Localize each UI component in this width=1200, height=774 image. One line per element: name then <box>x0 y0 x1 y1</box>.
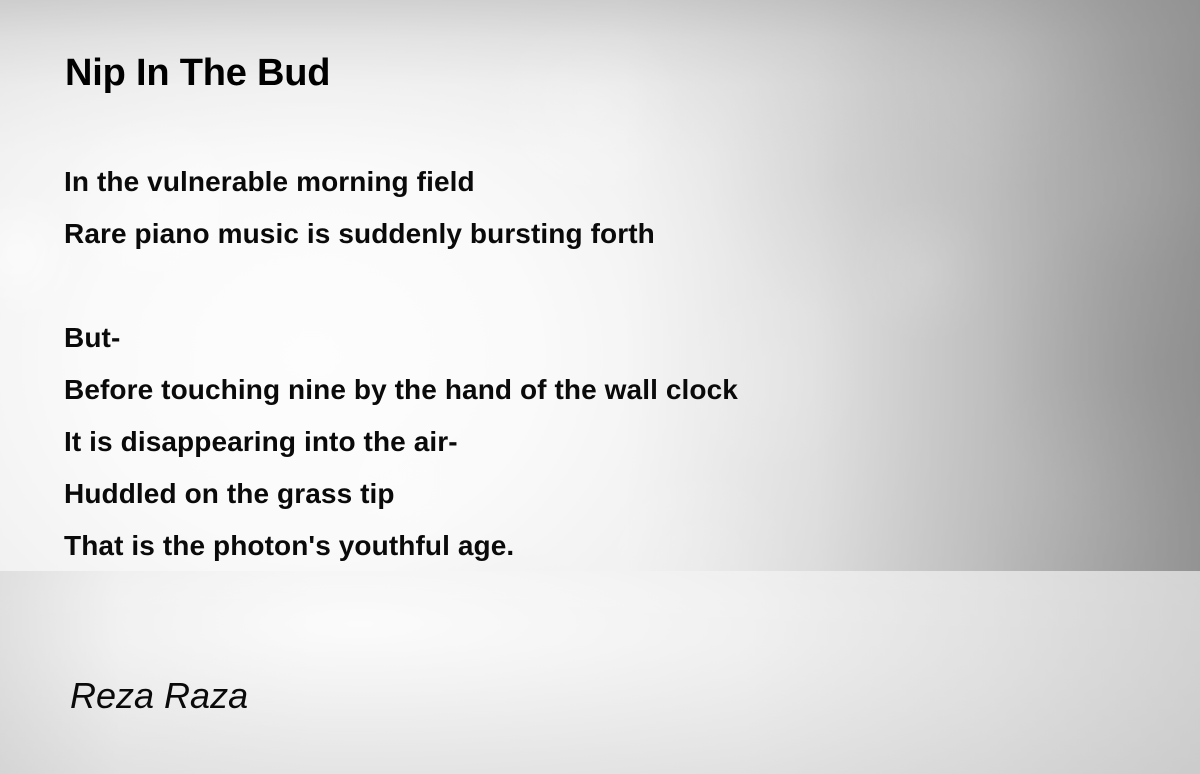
poem-line: Rare piano music is suddenly bursting fo… <box>64 208 738 260</box>
poem-line: Huddled on the grass tip <box>64 468 738 520</box>
poem-title: Nip In The Bud <box>65 51 330 95</box>
poem-body: In the vulnerable morning field Rare pia… <box>64 156 738 572</box>
poem-content: Nip In The Bud In the vulnerable morning… <box>0 0 1200 774</box>
poem-image-card: Nip In The Bud In the vulnerable morning… <box>0 0 1200 774</box>
poem-line: Before touching nine by the hand of the … <box>64 364 738 416</box>
poem-line: It is disappearing into the air- <box>64 416 738 468</box>
poem-line: In the vulnerable morning field <box>64 156 738 208</box>
poem-line: That is the photon's youthful age. <box>64 520 738 572</box>
poem-line-blank <box>64 260 738 312</box>
poem-line: But- <box>64 312 738 364</box>
poem-author: Reza Raza <box>70 674 248 718</box>
